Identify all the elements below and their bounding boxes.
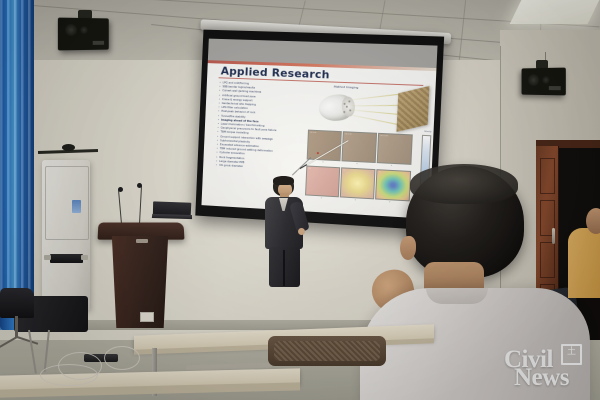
ac-front-door xyxy=(45,166,89,240)
figure-cell: (d) xyxy=(305,165,340,197)
bullet-dot-icon: • xyxy=(216,164,218,168)
colorbar-title: Velocity xyxy=(424,131,431,133)
ceiling-fluorescent-light xyxy=(510,0,600,24)
second-attendee-head xyxy=(586,208,600,234)
tunnel-cylinder-icon xyxy=(318,93,354,122)
equipment-knob xyxy=(62,144,75,151)
ac-energy-label xyxy=(72,200,81,213)
figure-cell: (e) xyxy=(340,167,375,199)
presenter-speaker xyxy=(262,176,308,286)
presenter-hand xyxy=(298,228,305,235)
window-curtain xyxy=(0,0,34,330)
student-hair-highlight xyxy=(410,164,518,204)
figure-row-top: (a) 0 m(b) 5 m(c) 10 m xyxy=(307,130,413,165)
second-attendee-body xyxy=(568,228,600,298)
diagram-label: Method Imaging xyxy=(334,85,359,90)
figure-cell-label: (d) xyxy=(308,167,311,169)
figure-cell-label: (a) 0 m xyxy=(310,131,317,133)
speaker-cone-icon xyxy=(65,24,77,36)
slide-bullet-list: •LPG and cold/forcing•SBB bender logics/… xyxy=(216,81,309,172)
figure-cell: (c) 10 m xyxy=(377,133,413,165)
presenter-trousers xyxy=(269,247,300,287)
speaker-brand-badge xyxy=(549,86,561,90)
ac-button-right[interactable] xyxy=(81,255,88,260)
ac-control-panel[interactable] xyxy=(50,254,83,263)
student-collar xyxy=(426,288,488,304)
speaker-cone-icon xyxy=(528,74,539,86)
office-chair[interactable] xyxy=(0,288,34,318)
figure-cell-label: (c) 10 m xyxy=(380,134,388,136)
wall-speaker-left xyxy=(58,18,109,51)
student-ear xyxy=(400,236,416,260)
wall-speaker-right xyxy=(522,68,566,96)
floor-cable xyxy=(40,364,98,386)
chair-stem xyxy=(15,316,18,338)
figure-cell-label: (e) xyxy=(343,169,346,171)
ac-button-left[interactable] xyxy=(44,255,51,260)
tunnel-imaging-diagram: Method Imaging xyxy=(310,84,429,135)
figure-cell-label: (f) xyxy=(379,171,381,173)
floor-cable xyxy=(104,346,140,370)
presenter-leg-split xyxy=(283,250,285,286)
floor-air-conditioner xyxy=(42,160,90,310)
speaker-tweeter-icon xyxy=(80,26,88,34)
figure-cell-label: (b) 5 m xyxy=(345,133,352,135)
imaging-result-panel xyxy=(396,86,429,132)
microphone-head xyxy=(137,183,142,188)
speaker-tweeter-icon xyxy=(542,76,550,84)
speaker-brand-badge xyxy=(93,41,104,45)
podium-nameplate xyxy=(136,239,148,243)
presenter-hair xyxy=(273,176,294,185)
wall-outlet[interactable] xyxy=(140,312,154,322)
figure-cell: (b) 5 m xyxy=(342,131,377,163)
lecture-hall-photo: Applied Research •LPG and cold/forcing•S… xyxy=(0,0,600,400)
chair-mesh-panel xyxy=(274,341,380,361)
microphone-head xyxy=(118,187,123,192)
